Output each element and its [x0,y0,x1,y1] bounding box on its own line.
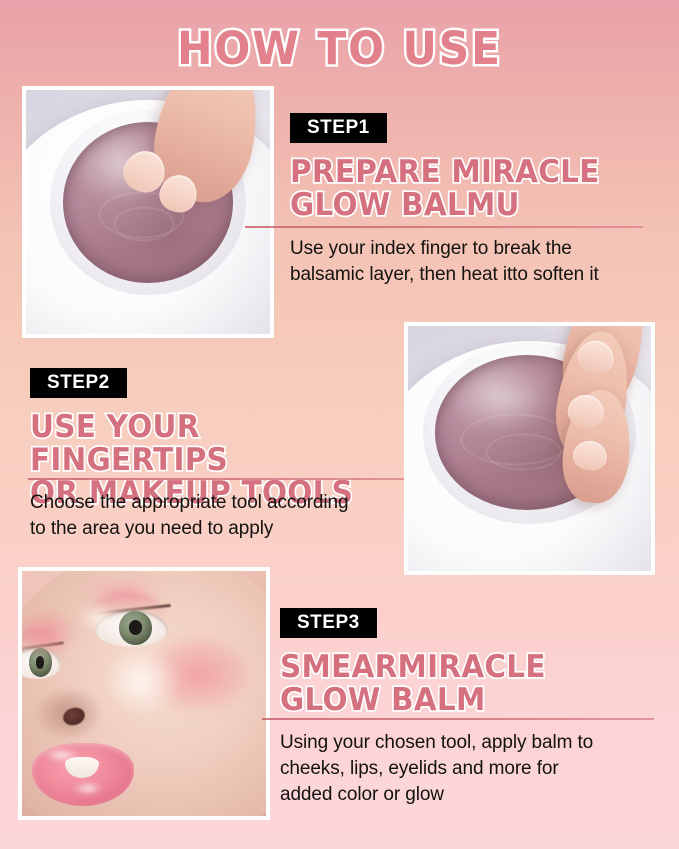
step-1-divider [245,226,643,228]
step-2-body: Choose the appropriate tool according to… [30,490,415,542]
step-2-badge: STEP2 [30,368,127,398]
step-1-body: Use your index finger to break the balsa… [290,236,655,288]
balm-swirl [486,434,561,470]
balm-swirl [114,207,175,241]
pupil [36,656,45,668]
lip-shine [73,782,104,795]
step-3-divider [262,718,654,720]
step-1-block: STEP1 PREPARE MIRACLE GLOW BALMU [290,113,650,222]
step-3-block: STEP3 SMEARMIRACLE GLOW BALM [280,608,650,717]
step-3-badge: STEP3 [280,608,377,638]
step-3-body-block: Using your chosen tool, apply balm to ch… [280,730,655,809]
step-3-photo [18,567,270,820]
step-3-body: Using your chosen tool, apply balm to ch… [280,730,655,809]
cheek-blush [18,610,76,654]
step-2-divider [28,478,424,480]
step-3-heading: SMEARMIRACLE GLOW BALM [280,651,632,717]
finger-pressing-balm-jar-image [26,90,270,334]
how-to-use-poster: HOW TO USE STEP1 PREPARE MIRACLE GLOW BA… [0,0,679,849]
step-1-badge: STEP1 [290,113,387,143]
step-2-photo [404,322,655,575]
page-title: HOW TO USE [20,22,658,75]
step-1-photo [22,86,274,338]
step-1-heading: PREPARE MIRACLE GLOW BALMU [290,156,632,222]
step-1-body-block: Use your index finger to break the balsa… [290,236,655,288]
model-face-with-glow-makeup-image [22,571,266,816]
fingertips-on-balm-surface-image [408,326,651,571]
brow-highlight [81,605,115,630]
step-2-body-block: Choose the appropriate tool according to… [30,490,415,542]
lip-shine [44,748,79,762]
cheek-highlight [105,649,178,713]
